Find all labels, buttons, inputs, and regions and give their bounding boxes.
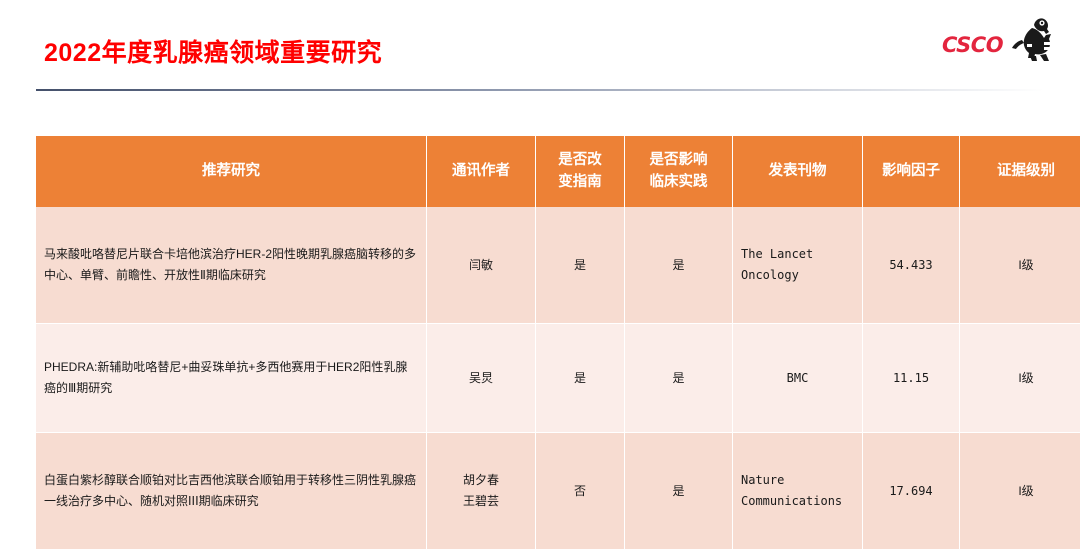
author-name-line1: 吴炅 [435,368,527,389]
column-header-study: 推荐研究 [36,136,427,207]
cell-impact-factor: 11.15 [863,324,960,433]
recommended-studies-table: 推荐研究 通讯作者 是否改 变指南 是否影响 临床实践 发表刊物 影响因子 证据… [36,136,1080,549]
author-name-line1: 胡夕春 [435,470,527,491]
cell-author: 吴炅 [427,324,536,433]
page-title: 2022年度乳腺癌领域重要研究 [44,33,382,69]
cell-journal: The Lancet Oncology [733,207,863,324]
table-body: 马来酸吡咯替尼片联合卡培他滨治疗HER-2阳性晚期乳腺癌脑转移的多中心、单臂、前… [36,207,1080,549]
cell-changes-guideline: 否 [536,433,625,549]
csco-mascot-icon [1008,14,1054,62]
column-header-evidence-level: 证据级别 [960,136,1080,207]
column-header-author: 通讯作者 [427,136,536,207]
cell-evidence-level: I级 [960,433,1080,549]
column-header-changes-guideline-line2: 变指南 [558,174,602,190]
cell-changes-guideline: 是 [536,324,625,433]
column-header-affects-practice-line2: 临床实践 [650,174,708,190]
cell-author: 闫敏 [427,207,536,324]
column-header-changes-guideline: 是否改 变指南 [536,136,625,207]
author-name-line1: 闫敏 [435,255,527,276]
table-row: 白蛋白紫杉醇联合顺铂对比吉西他滨联合顺铂用于转移性三阴性乳腺癌一线治疗多中心、随… [36,433,1080,549]
csco-logo: CSCO [942,14,1054,66]
column-header-affects-practice: 是否影响 临床实践 [625,136,733,207]
cell-affects-practice: 是 [625,324,733,433]
cell-evidence-level: I级 [960,207,1080,324]
column-header-affects-practice-line1: 是否影响 [650,152,708,168]
table-header: 推荐研究 通讯作者 是否改 变指南 是否影响 临床实践 发表刊物 影响因子 证据… [36,136,1080,207]
cell-changes-guideline: 是 [536,207,625,324]
column-header-impact-factor: 影响因子 [863,136,960,207]
cell-study: 马来酸吡咯替尼片联合卡培他滨治疗HER-2阳性晚期乳腺癌脑转移的多中心、单臂、前… [36,207,427,324]
cell-journal: Nature Communications [733,433,863,549]
cell-affects-practice: 是 [625,433,733,549]
title-divider [36,89,1044,91]
table-header-row: 推荐研究 通讯作者 是否改 变指南 是否影响 临床实践 发表刊物 影响因子 证据… [36,136,1080,207]
slide-header: 2022年度乳腺癌领域重要研究 CSCO [0,0,1080,96]
cell-impact-factor: 54.433 [863,207,960,324]
cell-impact-factor: 17.694 [863,433,960,549]
cell-author: 胡夕春 王碧芸 [427,433,536,549]
author-name-line2: 王碧芸 [435,491,527,512]
cell-evidence-level: I级 [960,324,1080,433]
table-row: PHEDRA:新辅助吡咯替尼+曲妥珠单抗+多西他赛用于HER2阳性乳腺癌的Ⅲ期研… [36,324,1080,433]
cell-study: PHEDRA:新辅助吡咯替尼+曲妥珠单抗+多西他赛用于HER2阳性乳腺癌的Ⅲ期研… [36,324,427,433]
table-row: 马来酸吡咯替尼片联合卡培他滨治疗HER-2阳性晚期乳腺癌脑转移的多中心、单臂、前… [36,207,1080,324]
cell-journal: BMC [733,324,863,433]
cell-affects-practice: 是 [625,207,733,324]
cell-study: 白蛋白紫杉醇联合顺铂对比吉西他滨联合顺铂用于转移性三阴性乳腺癌一线治疗多中心、随… [36,433,427,549]
column-header-journal: 发表刊物 [733,136,863,207]
csco-logo-text: CSCO [942,33,1003,57]
column-header-changes-guideline-line1: 是否改 [558,152,602,168]
